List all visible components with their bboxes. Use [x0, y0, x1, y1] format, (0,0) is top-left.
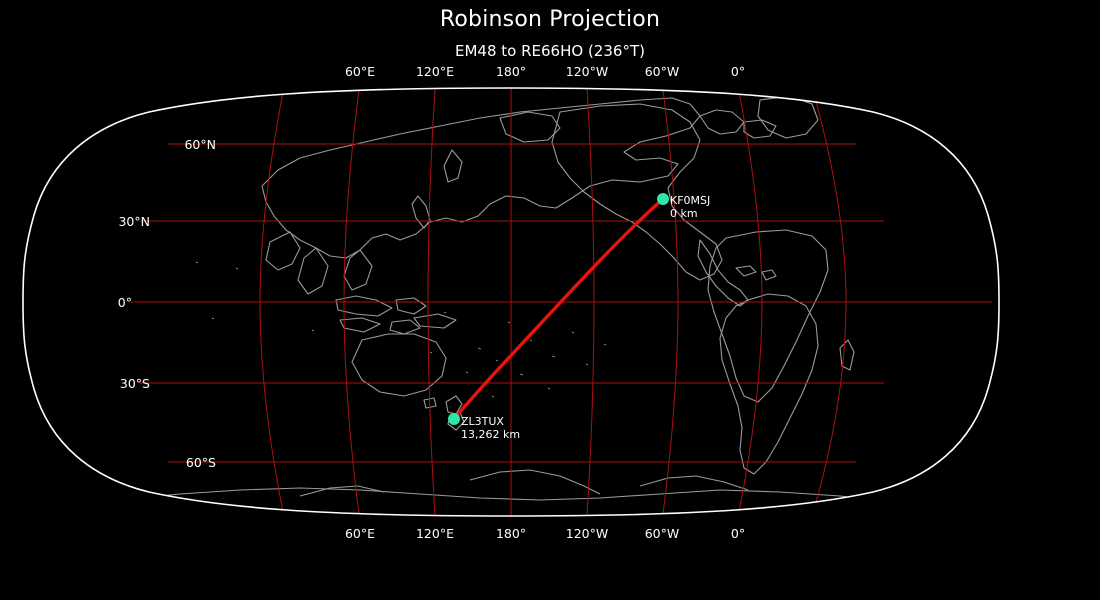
lat-label-60N: 60°N — [184, 137, 216, 152]
lon-label-top-5: 0° — [731, 64, 745, 79]
lon-label-top-2: 180° — [496, 64, 526, 79]
lon-label-top-1: 120°E — [416, 64, 454, 79]
robinson-map-canvas: KF0MSJ 0 km ZL3TUX 13,262 km 60°E 120°E … — [0, 0, 1100, 600]
lat-label-0: 0° — [118, 295, 132, 310]
origin-distance-label: 0 km — [670, 207, 698, 220]
lon-label-top-0: 60°E — [345, 64, 375, 79]
destination-dot[interactable] — [448, 413, 460, 425]
lon-label-bottom-1: 120°E — [416, 526, 454, 541]
origin-dot[interactable] — [657, 193, 669, 205]
lon-label-bottom-5: 0° — [731, 526, 745, 541]
lon-labels-bottom: 60°E 120°E 180° 120°W 60°W 0° — [345, 526, 745, 541]
lon-label-bottom-4: 60°W — [645, 526, 680, 541]
map-face — [0, 0, 1100, 600]
lon-label-bottom-2: 180° — [496, 526, 526, 541]
origin-callsign-label: KF0MSJ — [670, 194, 710, 207]
lon-label-top-3: 120°W — [566, 64, 608, 79]
lon-labels-top: 60°E 120°E 180° 120°W 60°W 0° — [345, 64, 745, 79]
destination-callsign-label: ZL3TUX — [461, 415, 504, 428]
lon-label-bottom-0: 60°E — [345, 526, 375, 541]
lon-label-top-4: 60°W — [645, 64, 680, 79]
lon-label-bottom-3: 120°W — [566, 526, 608, 541]
destination-distance-label: 13,262 km — [461, 428, 520, 441]
lat-label-60S: 60°S — [186, 455, 216, 470]
lat-label-30S: 30°S — [120, 376, 150, 391]
map-figure: Robinson Projection EM48 to RE66HO (236°… — [0, 0, 1100, 600]
lat-label-30N: 30°N — [118, 214, 150, 229]
